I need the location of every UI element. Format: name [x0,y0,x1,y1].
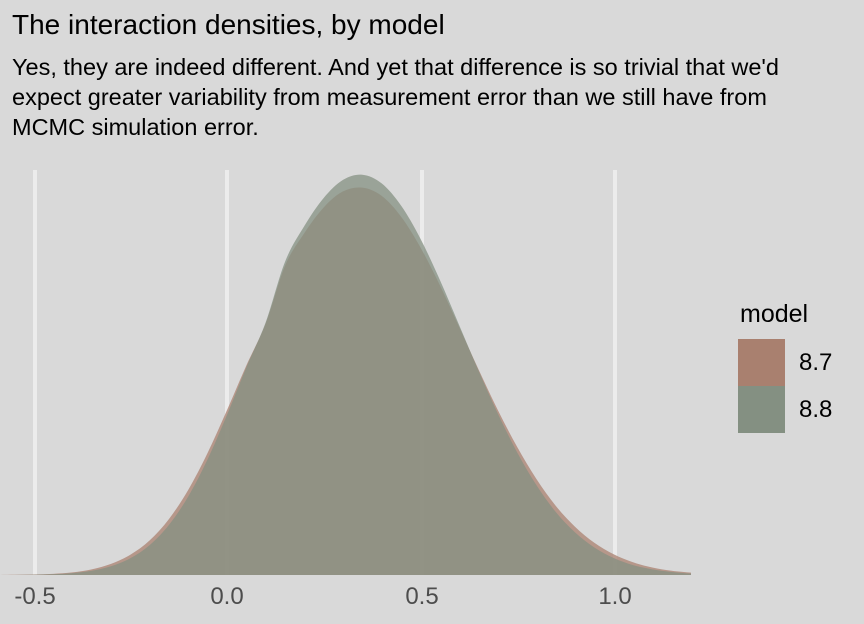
plot-panel [0,170,700,575]
legend-label-8-7: 8.7 [799,349,832,377]
legend-label-8-8: 8.8 [799,396,832,424]
density-area-8-8 [0,175,691,575]
legend-item-8-8[interactable]: 8.8 [738,386,858,433]
legend-swatch-8-8 [738,386,785,433]
legend-title: model [740,300,858,329]
x-tick-label-1: 0.0 [210,583,243,611]
legend-swatch-8-7 [738,339,785,386]
legend-item-8-7[interactable]: 8.7 [738,339,858,386]
x-tick-label-3: 1.0 [598,583,631,611]
chart-root: The interaction densities, by model Yes,… [0,0,864,624]
x-tick-label-0: -0.5 [14,583,55,611]
x-tick-label-2: 0.5 [405,583,438,611]
x-axis: -0.5 0.0 0.5 1.0 [0,575,700,624]
chart-title: The interaction densities, by model [12,6,445,44]
chart-subtitle: Yes, they are indeed different. And yet … [12,52,812,142]
legend: model 8.7 8.8 [738,300,858,433]
density-plot [0,170,700,575]
